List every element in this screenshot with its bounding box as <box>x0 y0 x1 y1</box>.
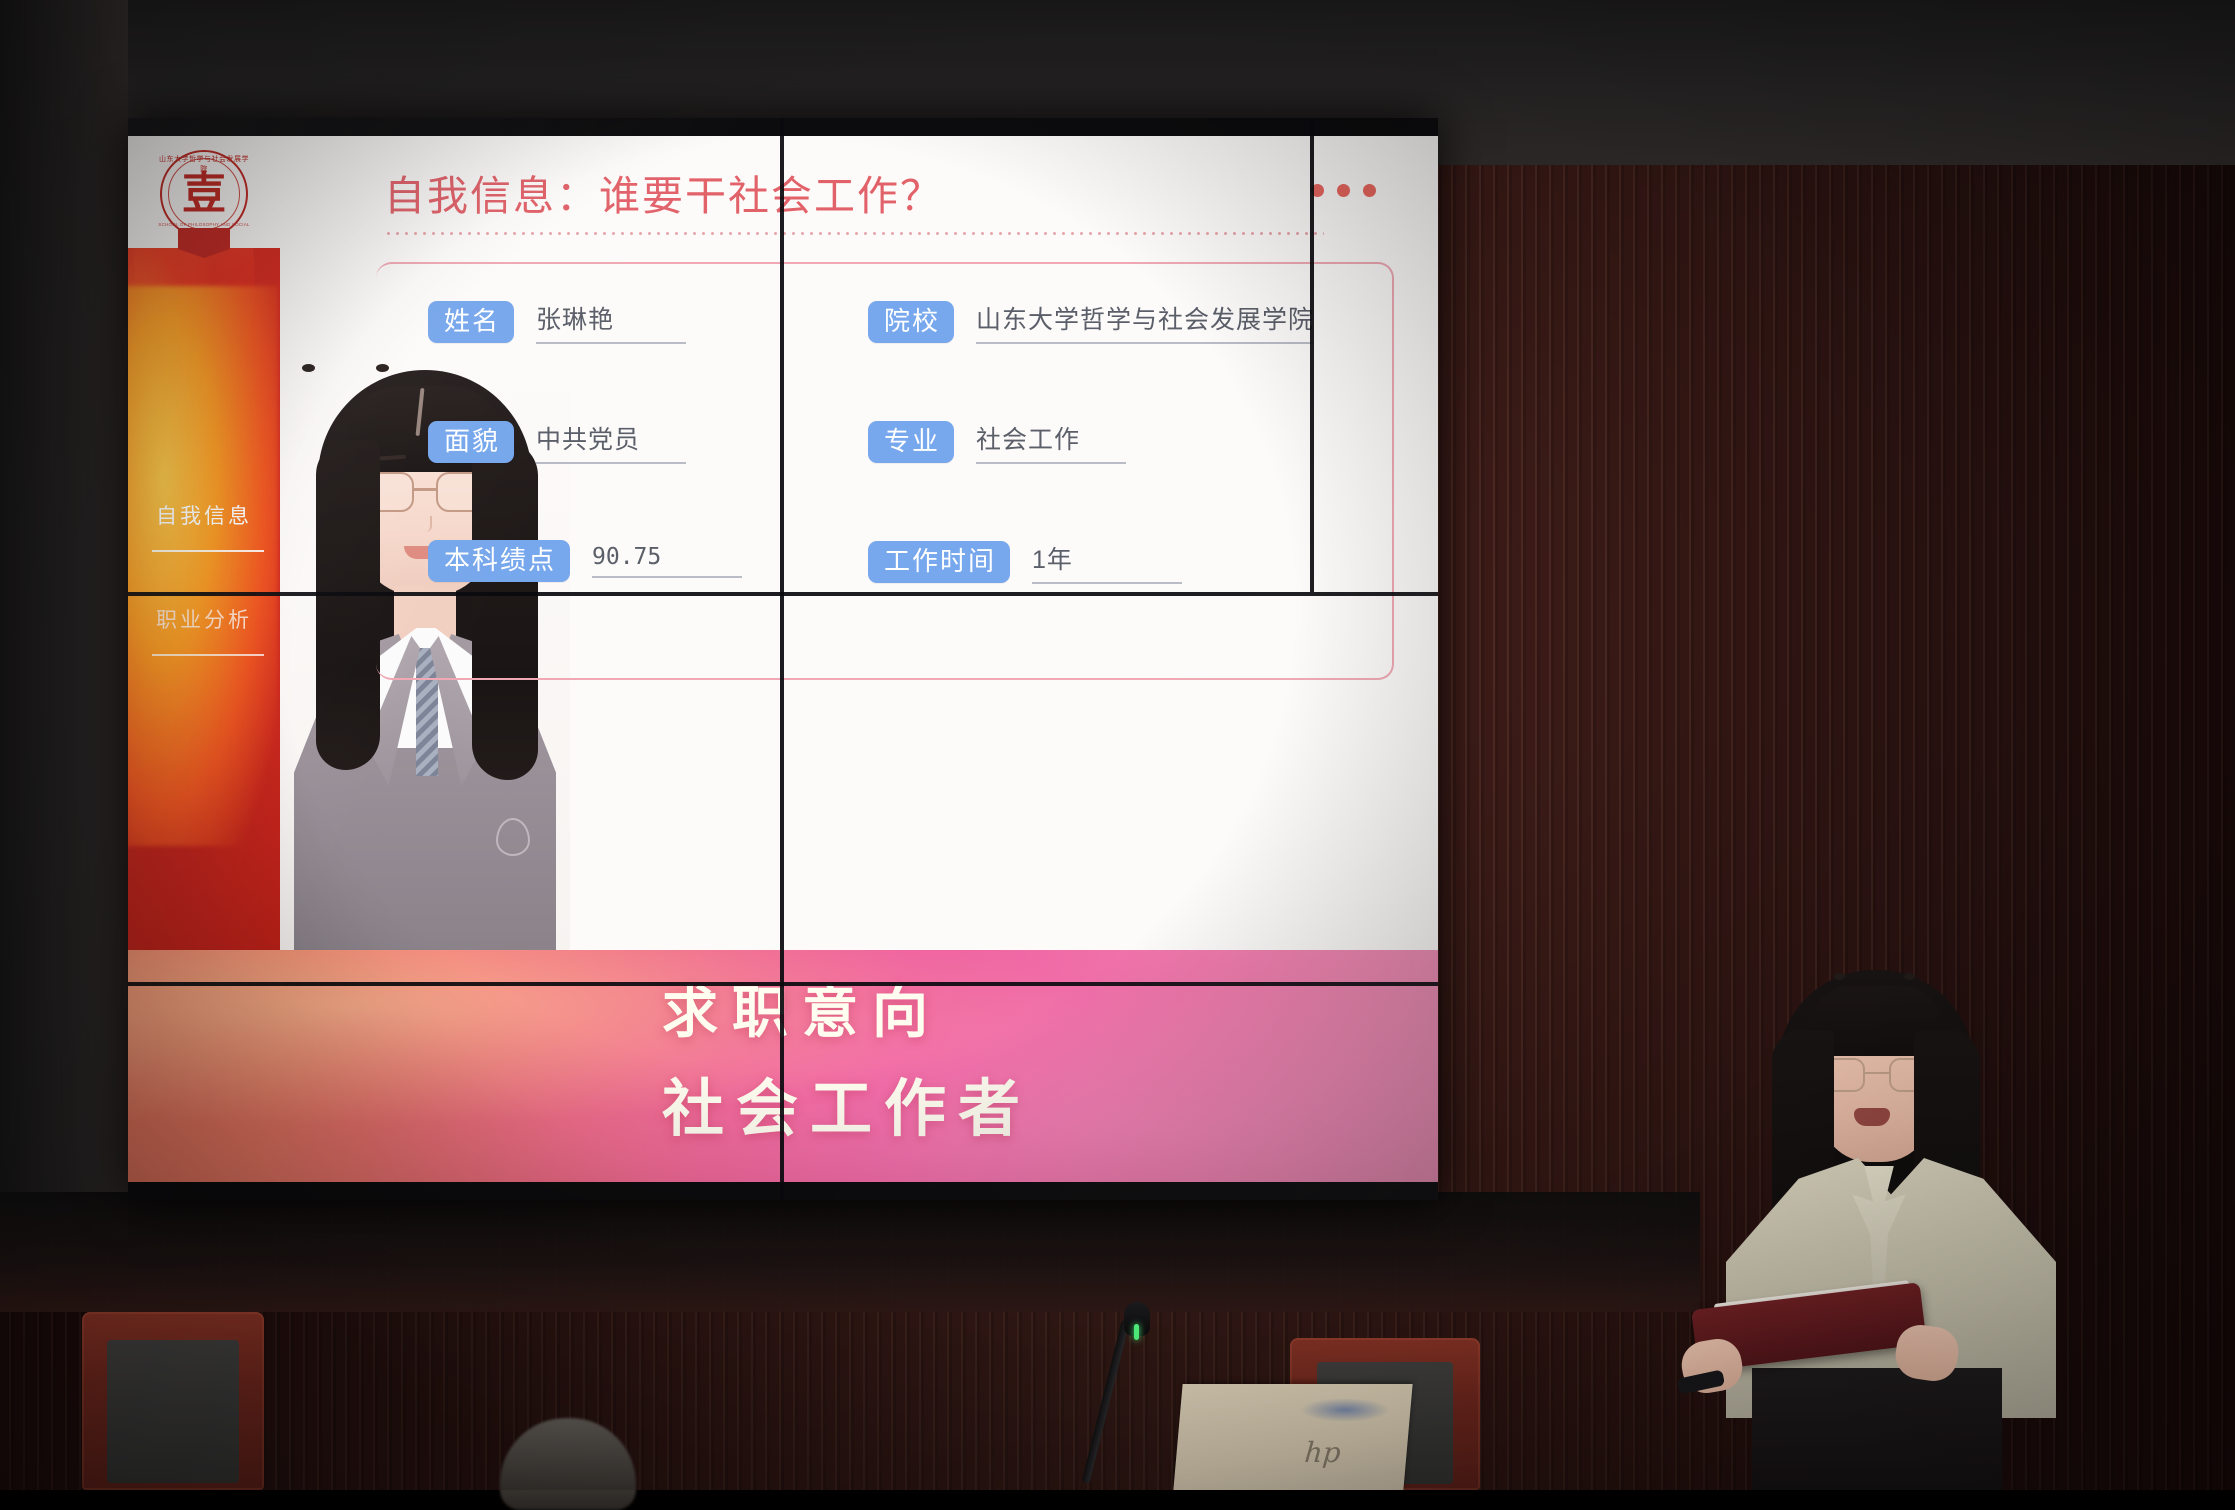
sidebar-item-label: 自我信息 <box>156 500 252 530</box>
field-value-work-experience: 1年 <box>1032 540 1182 584</box>
flame-shape-front <box>128 286 278 846</box>
field-value-major: 社会工作 <box>976 420 1126 464</box>
page-title: 自我信息：谁要干社会工作？ <box>384 162 943 222</box>
field-value-school: 山东大学哲学与社会发展学院 <box>976 300 1314 344</box>
presenter-glasses-bridge <box>1865 1072 1889 1074</box>
dot-3 <box>1363 184 1376 197</box>
sidebar-item-self-info[interactable]: 自我信息 <box>128 484 280 546</box>
sidebar-item-label: 职业分析 <box>156 604 252 634</box>
logo-plate: 山东大学哲学与社会发展学院 壴 SCHOOL OF PHILOSOPHY AND… <box>128 136 280 248</box>
presenter-eye-right <box>1904 973 1915 980</box>
mic-status-led <box>1134 1324 1139 1340</box>
form-row-3: 本科绩点 90.75 工作时间 1年 <box>428 540 1438 600</box>
presenter-mouth-speaking <box>1854 1108 1890 1126</box>
video-wall-display[interactable]: 自我信息 职业分析 山东大学哲学与社会发展学院 壴 SCHOOL OF PHIL… <box>128 118 1438 1200</box>
field-label-school: 院校 <box>868 301 954 343</box>
sidebar-divider-2 <box>152 654 264 656</box>
field-school[interactable]: 院校 山东大学哲学与社会发展学院 <box>868 300 1314 344</box>
form-row-2: 面貌 中共党员 专业 社会工作 <box>428 420 1438 480</box>
lecture-room: 自我信息 职业分析 山东大学哲学与社会发展学院 壴 SCHOOL OF PHIL… <box>0 0 2235 1490</box>
field-value-political-status: 中共党员 <box>536 420 686 464</box>
dot-2 <box>1337 184 1350 197</box>
seal-shield-banner <box>178 228 230 258</box>
slide-art-column <box>128 136 280 956</box>
header-dotted-divider <box>384 232 1324 235</box>
presenter-eye-left <box>1834 973 1845 980</box>
field-value-gpa: 90.75 <box>592 544 742 578</box>
field-label-political-status: 面貌 <box>428 421 514 463</box>
field-name[interactable]: 姓名 张琳艳 <box>428 300 686 344</box>
banner-line-2: 社会工作者 <box>662 1059 1142 1159</box>
field-label-name: 姓名 <box>428 301 514 343</box>
banner-text-block: 求职意向 社会工作者 <box>662 968 1142 1159</box>
more-options-dots-icon[interactable] <box>1311 184 1376 197</box>
eye-left <box>302 364 315 372</box>
presenter-skirt <box>1752 1368 2002 1490</box>
field-label-gpa: 本科绩点 <box>428 540 570 582</box>
left-dark-wall <box>0 0 128 1240</box>
field-label-work-experience: 工作时间 <box>868 541 1010 583</box>
slide-header: 自我信息：谁要干社会工作？ <box>280 136 1438 248</box>
sidebar-divider-1 <box>152 550 264 552</box>
field-gpa[interactable]: 本科绩点 90.75 <box>428 540 742 582</box>
laptop-screen-glow <box>1300 1398 1390 1422</box>
panel-seam-horizontal-2 <box>128 982 1438 986</box>
presenter-person <box>1700 960 2120 1490</box>
auditorium-chair <box>82 1312 264 1490</box>
university-seal-icon: 山东大学哲学与社会发展学院 壴 SCHOOL OF PHILOSOPHY AND… <box>156 150 252 258</box>
field-label-major: 专业 <box>868 421 954 463</box>
hair-side-left <box>316 440 380 770</box>
seal-glyph: 壴 <box>176 168 232 220</box>
sidebar-item-career-analysis[interactable]: 职业分析 <box>128 588 280 650</box>
field-value-name: 张琳艳 <box>536 300 686 344</box>
hp-logo-icon: hp <box>1303 1436 1340 1470</box>
field-major[interactable]: 专业 社会工作 <box>868 420 1126 464</box>
form-row-1: 姓名 张琳艳 院校 山东大学哲学与社会发展学院 <box>428 300 1438 360</box>
field-political-status[interactable]: 面貌 中共党员 <box>428 420 686 464</box>
lower-dark-wall <box>0 1192 1700 1312</box>
panel-seam-horizontal-1 <box>128 592 1438 596</box>
panel-seam-vertical-2 <box>1310 118 1314 592</box>
field-work-experience[interactable]: 工作时间 1年 <box>868 540 1182 584</box>
jacket-crest-emblem <box>496 818 530 856</box>
chair-pad <box>107 1340 238 1482</box>
panel-seam-vertical <box>780 118 784 1200</box>
